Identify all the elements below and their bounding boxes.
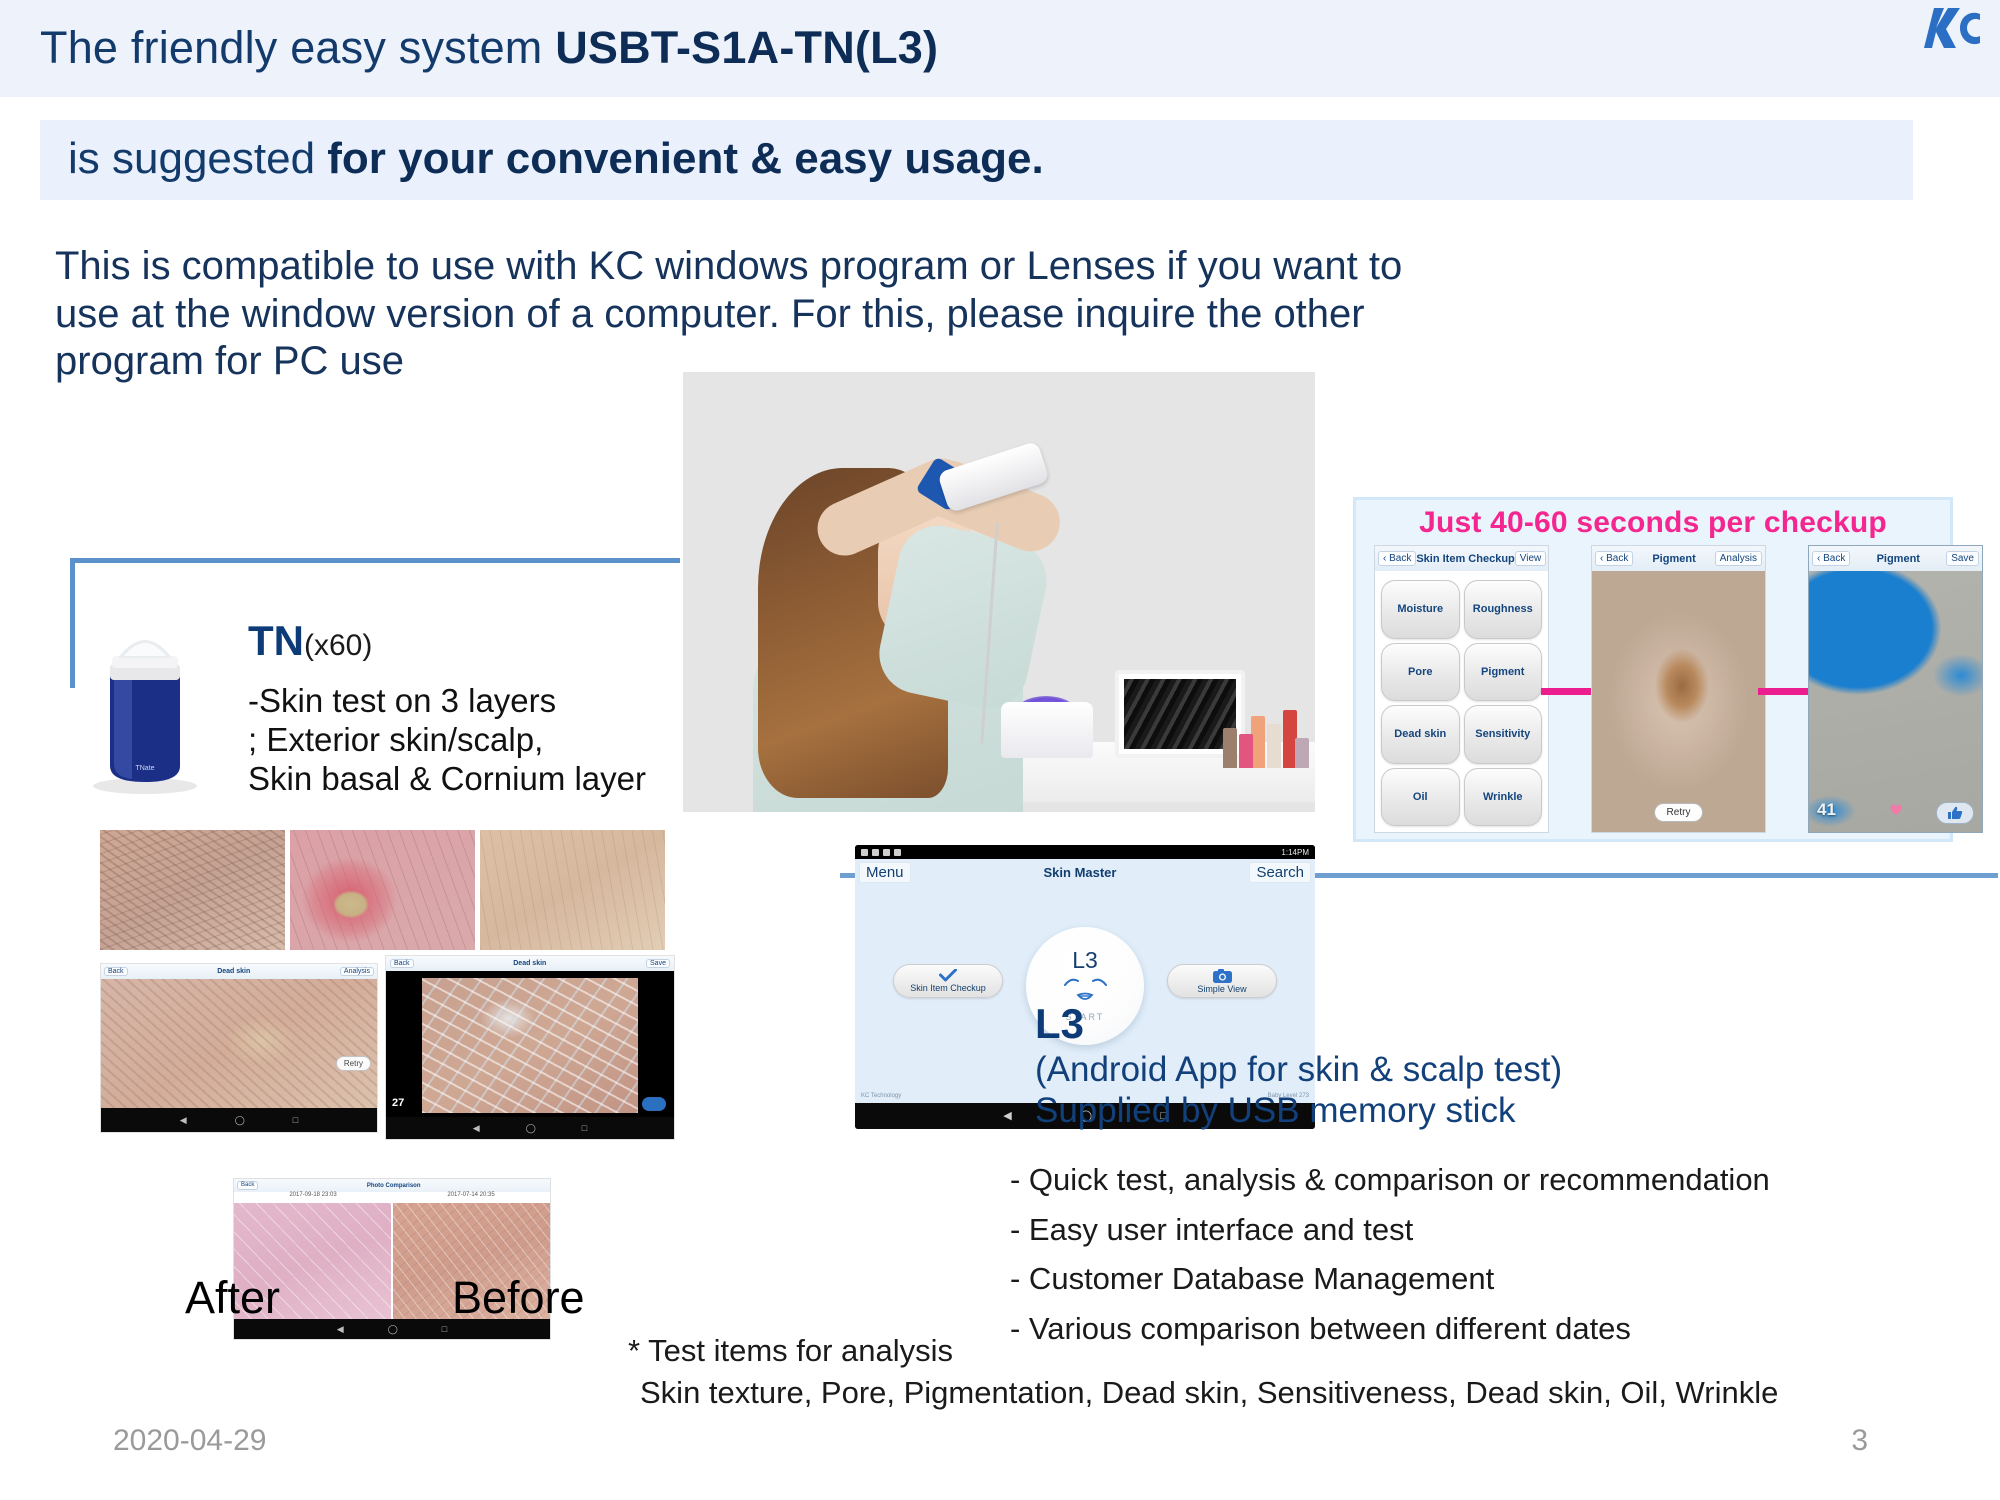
skin-item-wrinkle[interactable]: Wrinkle	[1464, 768, 1543, 827]
phone-screen-pigment-capture: ‹ Back Pigment Analysis Retry	[1591, 545, 1766, 833]
pigment-analyzed-image	[1809, 571, 1982, 832]
tn-lens-image: TNate	[80, 614, 210, 794]
m4-retry-button[interactable]: Retry	[336, 1056, 371, 1071]
skin-item-pigment[interactable]: Pigment	[1464, 643, 1543, 702]
footer-date: 2020-04-29	[113, 1424, 266, 1458]
phone2-topbar: ‹ Back Pigment Analysis	[1592, 546, 1765, 571]
tablet-center-label: L3	[1072, 949, 1098, 972]
header-band-secondary: is suggested for your convenient & easy …	[40, 120, 1913, 200]
intro-paragraph: This is compatible to use with KC window…	[55, 243, 1455, 386]
tablet-search-button[interactable]: Search	[1249, 862, 1311, 883]
phone2-analysis-button[interactable]: Analysis	[1715, 551, 1762, 566]
tablet-menu-button[interactable]: Menu	[859, 862, 911, 883]
tablet-statusbar: 1:14PM	[855, 845, 1315, 859]
comparison-topbar: Back Photo Comparison	[234, 1179, 550, 1192]
m5-android-navbar: ◀ ◯ □	[386, 1117, 674, 1139]
header-subtitle-bold: for your convenient & easy usage.	[327, 134, 1043, 183]
tablet-skin-item-checkup-button[interactable]: Skin Item Checkup	[893, 964, 1003, 998]
dead-skin-score-value: 27	[392, 1097, 404, 1109]
back-nav-icon[interactable]: ◀	[337, 1325, 344, 1334]
l3-bullet-1: - Quick test, analysis & comparison or r…	[1010, 1155, 1970, 1205]
m4-android-navbar: ◀ ◯ □	[101, 1108, 377, 1132]
photo-device-cradle	[1001, 702, 1093, 758]
photo-tablet-screen	[1124, 679, 1236, 749]
header-title-line1: The friendly easy system USBT-S1A-TN(L3)	[40, 21, 938, 73]
m4-back-button[interactable]: Back	[104, 967, 128, 977]
back-nav-icon[interactable]: ◀	[1003, 1111, 1011, 1122]
phone3-topbar: ‹ Back Pigment Save	[1809, 546, 1982, 571]
home-nav-icon[interactable]: ◯	[388, 1325, 398, 1334]
skin-item-sensitivity[interactable]: Sensitivity	[1464, 705, 1543, 764]
skin-item-oil[interactable]: Oil	[1381, 768, 1460, 827]
comparison-back-button[interactable]: Back	[237, 1181, 258, 1190]
tablet-status-icons	[861, 849, 901, 856]
m4-topbar: Back Dead skin Analysis	[101, 964, 377, 979]
tablet-left-button-label: Skin Item Checkup	[910, 983, 986, 993]
flow-arrow-2	[1758, 688, 1810, 695]
back-nav-icon[interactable]: ◀	[180, 1116, 187, 1125]
phone1-view-button[interactable]: View	[1515, 551, 1547, 566]
phone2-retry-button[interactable]: Retry	[1654, 803, 1704, 822]
recents-nav-icon[interactable]: □	[582, 1124, 587, 1133]
m4-analysis-button[interactable]: Analysis	[340, 967, 374, 977]
l3-bullet-list: - Quick test, analysis & comparison or r…	[1010, 1155, 1970, 1353]
label-after: After	[185, 1272, 280, 1324]
flow-arrow-1	[1541, 688, 1593, 695]
phone1-back-button[interactable]: ‹ Back	[1378, 551, 1416, 566]
dead-skin-analyzed-image	[422, 978, 638, 1113]
l3-bullet-4: - Various comparison between different d…	[1010, 1304, 1970, 1354]
home-nav-icon[interactable]: ◯	[526, 1124, 536, 1133]
phone3-title: Pigment	[1877, 553, 1920, 565]
photo-cosmetic-4	[1223, 728, 1237, 768]
header-title-bold: USBT-S1A-TN(L3)	[555, 21, 938, 72]
skin-item-moisture[interactable]: Moisture	[1381, 580, 1460, 639]
label-before: Before	[452, 1272, 585, 1324]
photo-cosmetic-2	[1267, 724, 1281, 768]
dead-skin-capture-screen: Back Dead skin Analysis Retry ◀ ◯ □	[100, 963, 378, 1133]
check-icon	[939, 969, 957, 982]
recents-nav-icon[interactable]: □	[442, 1325, 447, 1334]
tn-title-text: TN	[248, 617, 304, 664]
photo-cosmetic-6	[1295, 738, 1309, 768]
skin-item-roughness[interactable]: Roughness	[1464, 580, 1543, 639]
kc-logo-icon	[1922, 2, 1990, 54]
l3-title: L3	[1035, 1000, 1084, 1048]
comparison-date-right: 2017-07-14 20:35	[392, 1192, 550, 1203]
m5-thumbs-up-button[interactable]	[642, 1097, 666, 1111]
slide-canvas: The friendly easy system USBT-S1A-TN(L3)…	[0, 0, 2000, 1500]
recents-nav-icon[interactable]: □	[293, 1116, 298, 1125]
tablet-app-topbar: Menu Skin Master Search	[855, 859, 1315, 885]
l3-bullet-2: - Easy user interface and test	[1010, 1205, 1970, 1255]
svg-text:TNate: TNate	[135, 765, 154, 772]
l3-subtitle: (Android App for skin & scalp test) Supp…	[1035, 1050, 1915, 1132]
m5-save-button[interactable]: Save	[646, 959, 670, 969]
tablet-footer-left: KC Technology	[861, 1093, 901, 1099]
m5-title: Dead skin	[513, 960, 546, 967]
tn-magnification: (x60)	[304, 629, 372, 662]
m4-title: Dead skin	[217, 968, 250, 975]
micro-skin-image-3	[480, 830, 665, 950]
comparison-date-left: 2017-09-18 23:03	[234, 1192, 392, 1203]
comparison-title: Photo Comparison	[367, 1183, 421, 1189]
skin-item-dead-skin[interactable]: Dead skin	[1381, 705, 1460, 764]
checkup-flow-panel: Just 40-60 seconds per checkup ‹ Back Sk…	[1353, 497, 1953, 842]
header-title-plain: The friendly easy system	[40, 21, 555, 72]
header-band-primary: The friendly easy system USBT-S1A-TN(L3)	[0, 0, 2000, 97]
thumbs-up-icon	[1947, 806, 1963, 820]
phone3-back-button[interactable]: ‹ Back	[1812, 551, 1850, 566]
phone1-topbar: ‹ Back Skin Item Checkup View	[1375, 546, 1548, 571]
phone3-thumbs-up-button[interactable]	[1936, 802, 1974, 824]
usage-photo	[683, 372, 1315, 812]
test-items-note-title: * Test items for analysis	[628, 1333, 953, 1369]
phone2-back-button[interactable]: ‹ Back	[1595, 551, 1633, 566]
home-nav-icon[interactable]: ◯	[235, 1116, 245, 1125]
face-eyes-icon	[1064, 978, 1107, 987]
phone-screen-pigment-analysis: ‹ Back Pigment Save 41	[1808, 545, 1983, 833]
dead-skin-raw-image	[101, 979, 377, 1108]
l3-bullet-3: - Customer Database Management	[1010, 1254, 1970, 1304]
checkup-panel-title: Just 40-60 seconds per checkup	[1356, 506, 1950, 540]
header-subtitle-plain: is suggested	[68, 134, 327, 183]
skin-item-pore[interactable]: Pore	[1381, 643, 1460, 702]
m5-topbar: Back Dead skin Save	[386, 956, 674, 971]
heart-icon	[1889, 803, 1903, 816]
tablet-clock: 1:14PM	[1281, 848, 1309, 857]
test-items-note-body: Skin texture, Pore, Pigmentation, Dead s…	[640, 1375, 1778, 1411]
footer-page-number: 3	[1851, 1424, 1868, 1458]
tablet-right-button-label: Simple View	[1197, 984, 1246, 994]
phone3-save-button[interactable]: Save	[1946, 551, 1979, 566]
header-title-line2: is suggested for your convenient & easy …	[68, 134, 1044, 184]
micro-skin-image-2	[290, 830, 475, 950]
comparison-dates: 2017-09-18 23:03 2017-07-14 20:35	[234, 1192, 550, 1203]
tn-description: -Skin test on 3 layers ; Exterior skin/s…	[248, 682, 708, 799]
tablet-app-title: Skin Master	[1044, 865, 1117, 880]
skin-item-grid: Moisture Roughness Pore Pigment Dead ski…	[1375, 572, 1548, 834]
photo-cosmetic-1	[1251, 716, 1265, 768]
pigment-raw-image	[1592, 571, 1765, 832]
camera-icon	[1213, 969, 1232, 983]
dead-skin-analysis-screen: Back Dead skin Save 27 ◀ ◯ □	[385, 955, 675, 1140]
tablet-simple-view-button[interactable]: Simple View	[1167, 964, 1277, 998]
back-nav-icon[interactable]: ◀	[473, 1124, 480, 1133]
m5-back-button[interactable]: Back	[390, 959, 414, 969]
micro-skin-image-1	[100, 830, 285, 950]
pigment-score-value: 41	[1817, 800, 1836, 820]
phone1-title: Skin Item Checkup	[1416, 553, 1514, 565]
phone2-title: Pigment	[1652, 553, 1695, 565]
photo-cosmetic-5	[1239, 734, 1253, 768]
phone-screen-skin-item-checkup: ‹ Back Skin Item Checkup View Moisture R…	[1374, 545, 1549, 833]
tn-title: TN(x60)	[248, 617, 372, 665]
